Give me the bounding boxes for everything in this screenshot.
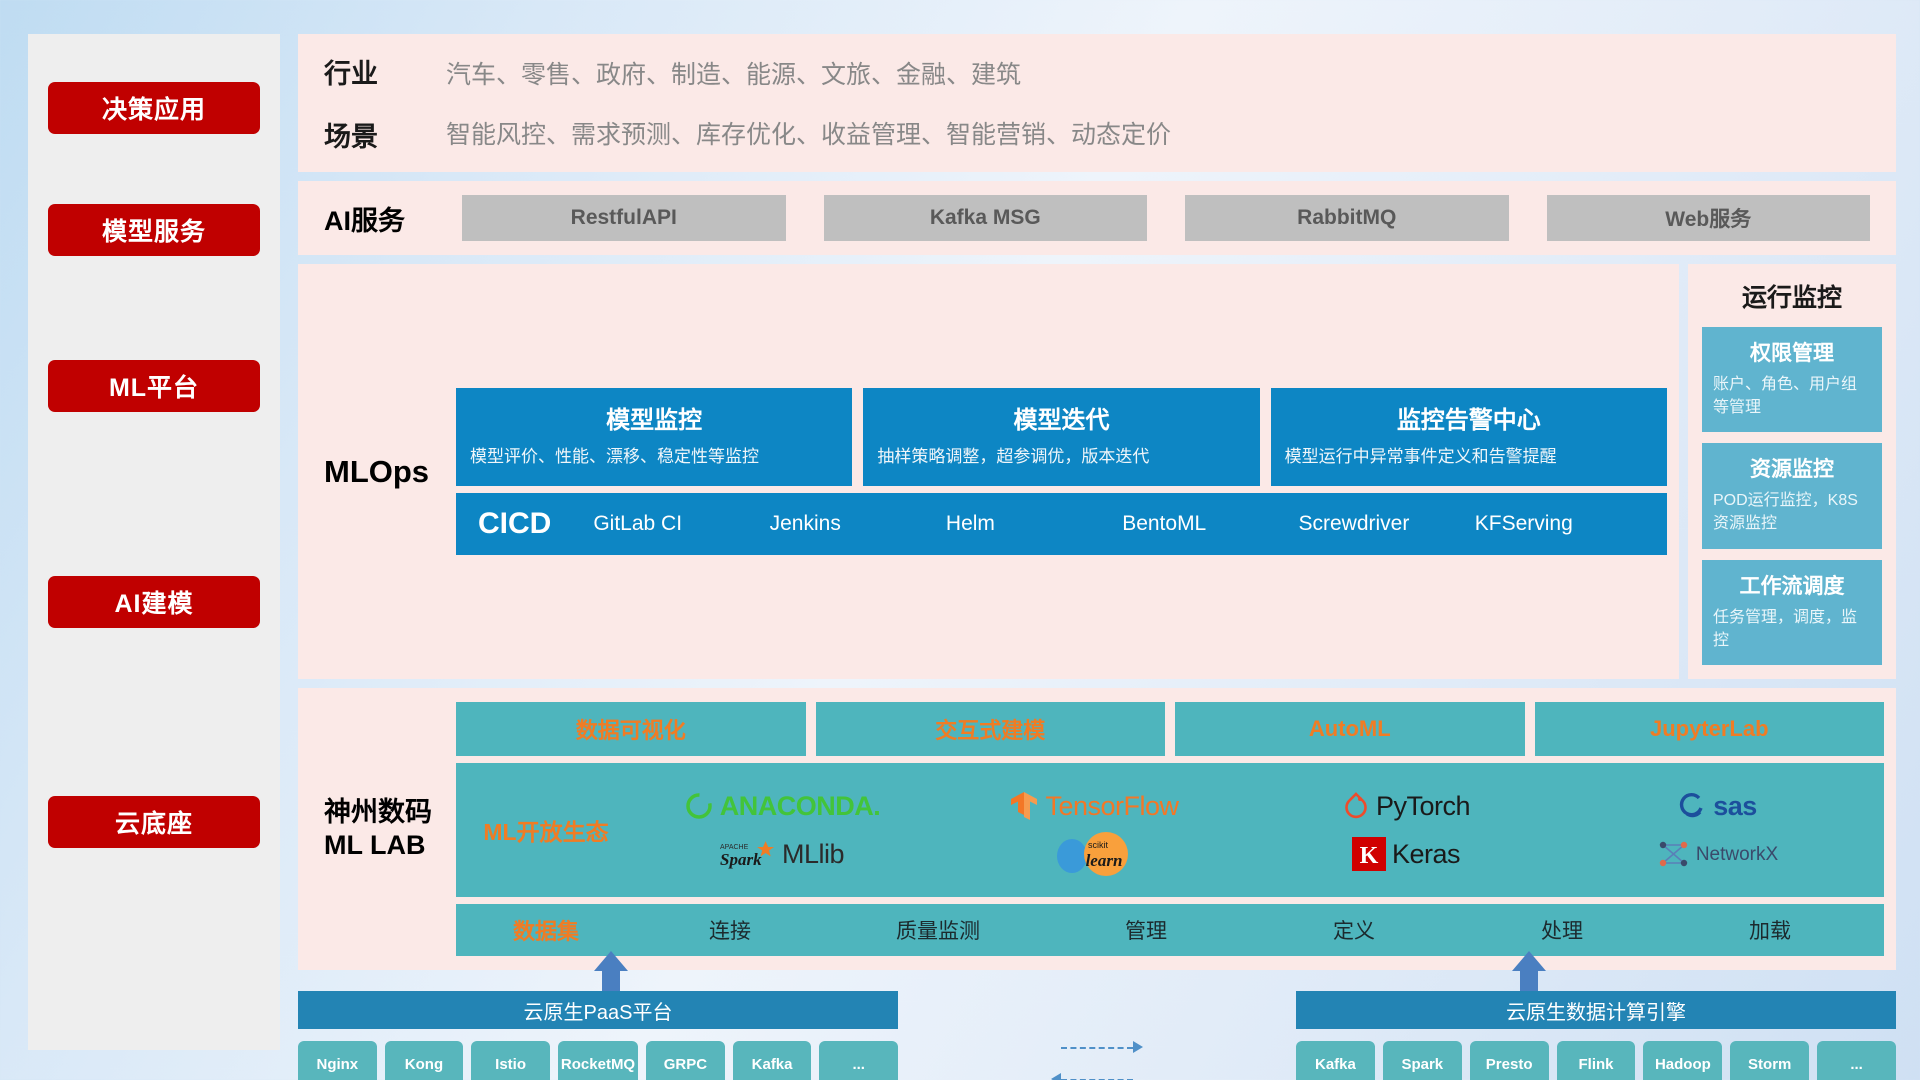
paas-tag-kafka[interactable]: Kafka — [733, 1041, 812, 1080]
monitor-panel: 运行监控 权限管理 账户、角色、用户组等管理 资源监控 POD运行监控，K8S资… — [1688, 264, 1896, 679]
ai-service-label: AI服务 — [324, 199, 442, 238]
compute-engine-tags: Kafka Spark Presto Flink Hadoop Storm ..… — [1296, 1029, 1896, 1080]
mlops-content: 模型监控 模型评价、性能、漂移、稳定性等监控 模型迭代 抽样策略调整，超参调优，… — [456, 388, 1667, 555]
monitor-card-workflow[interactable]: 工作流调度 任务管理，调度，监控 — [1702, 560, 1882, 665]
pytorch-logo: PyTorch — [1342, 791, 1470, 822]
svg-text:scikit: scikit — [1088, 840, 1108, 850]
paas-tag-kong[interactable]: Kong — [385, 1041, 464, 1080]
cicd-title: CICD — [478, 507, 551, 541]
sas-mark-icon — [1679, 792, 1707, 820]
ai-service-band: AI服务 RestfulAPI Kafka MSG RabbitMQ Web服务 — [298, 181, 1896, 255]
paas-title: 云原生PaaS平台 — [298, 991, 898, 1029]
dataset-item-process[interactable]: 处理 — [1458, 915, 1666, 945]
tab-automl[interactable]: AutoML — [1175, 702, 1525, 756]
sas-logo-text: sas — [1713, 791, 1757, 822]
card-desc: 任务管理，调度，监控 — [1713, 607, 1871, 652]
dataset-item-quality[interactable]: 质量监测 — [834, 915, 1042, 945]
tensorflow-mark-icon — [1009, 790, 1039, 822]
application-labels: 行业 场景 — [324, 52, 420, 154]
card-title: 工作流调度 — [1713, 570, 1871, 600]
arrow-head-left-icon — [1051, 1073, 1061, 1080]
monitor-panel-title: 运行监控 — [1702, 278, 1882, 314]
anaconda-logo: ANACONDA. — [684, 791, 881, 822]
networkx-logo-text: NetworkX — [1696, 845, 1778, 864]
layer-rail: 决策应用 模型服务 ML平台 AI建模 云底座 — [28, 34, 280, 1050]
sas-logo: sas — [1679, 791, 1757, 822]
ai-service-kafka-msg[interactable]: Kafka MSG — [824, 195, 1148, 241]
networkx-mark-icon — [1658, 839, 1690, 869]
dataset-items: 连接 质量监测 管理 定义 处理 加载 — [626, 915, 1874, 945]
scikit-learn-mark-icon: scikit learn — [1050, 830, 1138, 878]
cicd-item-kfserving[interactable]: KFServing — [1475, 513, 1651, 535]
card-desc: 模型评价、性能、漂移、稳定性等监控 — [470, 445, 838, 470]
compute-tag-hadoop[interactable]: Hadoop — [1643, 1041, 1722, 1080]
apache-spark-mark-icon: APACHE Spark — [720, 837, 776, 871]
paas-tag-rocketmq[interactable]: RocketMQ — [558, 1041, 638, 1080]
mlops-band: MLOps 模型监控 模型评价、性能、漂移、稳定性等监控 模型迭代 抽样策略调整… — [298, 264, 1679, 679]
mlops-label: MLOps — [324, 454, 446, 490]
main-column: 行业 场景 汽车、零售、政府、制造、能源、文旅、金融、建筑 智能风控、需求预测、… — [298, 34, 1896, 1050]
svg-text:learn: learn — [1086, 851, 1123, 870]
compute-tag-more[interactable]: ... — [1817, 1041, 1896, 1080]
bidirectional-arrows — [898, 991, 1296, 1080]
paas-tags: Nginx Kong Istio RocketMQ GRPC Kafka ... — [298, 1029, 898, 1080]
tensorflow-logo-text: TensorFlow — [1045, 791, 1178, 822]
rail-item-cloud-base[interactable]: 云底座 — [48, 796, 260, 848]
dataset-item-connect[interactable]: 连接 — [626, 915, 834, 945]
ml-lab-label-line1: 神州数码 — [324, 796, 446, 830]
pytorch-logo-text: PyTorch — [1376, 791, 1470, 822]
card-desc: 账户、角色、用户组等管理 — [1713, 374, 1871, 419]
compute-tag-flink[interactable]: Flink — [1557, 1041, 1636, 1080]
compute-tag-kafka[interactable]: Kafka — [1296, 1041, 1375, 1080]
tab-jupyterlab[interactable]: JupyterLab — [1535, 702, 1885, 756]
mlops-card-alert-center[interactable]: 监控告警中心 模型运行中异常事件定义和告警提醒 — [1271, 388, 1667, 486]
scenario-value: 智能风控、需求预测、库存优化、收益管理、智能营销、动态定价 — [446, 115, 1171, 151]
compute-engine-box: 云原生数据计算引擎 Kafka Spark Presto Flink Hadoo… — [1296, 991, 1896, 1080]
card-desc: POD运行监控，K8S资源监控 — [1713, 490, 1871, 535]
mlops-card-model-iteration[interactable]: 模型迭代 抽样策略调整，超参调优，版本迭代 — [863, 388, 1259, 486]
ml-lab-band: 神州数码 ML LAB 数据可视化 交互式建模 AutoML JupyterLa… — [298, 688, 1896, 970]
compute-tag-storm[interactable]: Storm — [1730, 1041, 1809, 1080]
paas-tag-more[interactable]: ... — [819, 1041, 898, 1080]
paas-tag-nginx[interactable]: Nginx — [298, 1041, 377, 1080]
paas-tag-istio[interactable]: Istio — [471, 1041, 550, 1080]
up-arrow-paas-icon — [594, 951, 628, 991]
cicd-item-helm[interactable]: Helm — [946, 513, 1122, 535]
industry-value: 汽车、零售、政府、制造、能源、文旅、金融、建筑 — [446, 55, 1171, 91]
svg-text:Spark: Spark — [720, 850, 762, 869]
scenario-label: 场景 — [324, 115, 420, 154]
up-arrow-compute-icon — [1512, 951, 1546, 991]
ml-ecosystem-label: ML开放生态 — [466, 813, 626, 847]
tab-data-visualization[interactable]: 数据可视化 — [456, 702, 806, 756]
ml-lab-content: 数据可视化 交互式建模 AutoML JupyterLab ML开放生态 ANA… — [456, 702, 1884, 956]
card-title: 权限管理 — [1713, 337, 1871, 367]
pytorch-mark-icon — [1342, 791, 1370, 821]
card-title: 模型监控 — [470, 400, 838, 435]
rail-item-ml-platform[interactable]: ML平台 — [48, 360, 260, 412]
rail-item-decision-app[interactable]: 决策应用 — [48, 82, 260, 134]
ml-ecosystem-logos: ANACONDA. TensorFlow — [626, 782, 1874, 878]
mlops-card-model-monitoring[interactable]: 模型监控 模型评价、性能、漂移、稳定性等监控 — [456, 388, 852, 486]
networkx-logo: NetworkX — [1658, 839, 1778, 869]
application-values: 汽车、零售、政府、制造、能源、文旅、金融、建筑 智能风控、需求预测、库存优化、收… — [446, 55, 1171, 151]
card-title: 模型迭代 — [877, 400, 1245, 435]
ai-service-items: RestfulAPI Kafka MSG RabbitMQ Web服务 — [462, 195, 1870, 241]
ml-lab-label: 神州数码 ML LAB — [324, 796, 446, 864]
anaconda-logo-text: ANACONDA. — [720, 791, 881, 822]
card-title: 资源监控 — [1713, 453, 1871, 483]
cicd-items: GitLab CI Jenkins Helm BentoML Screwdriv… — [593, 513, 1651, 535]
tab-interactive-modeling[interactable]: 交互式建模 — [816, 702, 1166, 756]
rail-item-ai-modeling[interactable]: AI建模 — [48, 576, 260, 628]
dataset-item-load[interactable]: 加载 — [1666, 915, 1874, 945]
arrow-head-right-icon — [1133, 1041, 1143, 1053]
paas-box: 云原生PaaS平台 Nginx Kong Istio RocketMQ GRPC… — [298, 991, 898, 1080]
compute-engine-title: 云原生数据计算引擎 — [1296, 991, 1896, 1029]
ml-ecosystem-row: ML开放生态 ANACONDA. — [456, 763, 1884, 897]
mlops-row: MLOps 模型监控 模型评价、性能、漂移、稳定性等监控 模型迭代 抽样策略调整… — [298, 264, 1896, 679]
anaconda-mark-icon — [684, 791, 714, 821]
spark-mllib-logo: APACHE Spark MLlib — [720, 837, 844, 871]
cicd-item-jenkins[interactable]: Jenkins — [770, 513, 946, 535]
keras-logo: K Keras — [1352, 837, 1460, 871]
diagram-root: 决策应用 模型服务 ML平台 AI建模 云底座 行业 场景 汽车、零售、政府、制… — [0, 0, 1920, 1080]
mllib-logo-text: MLlib — [782, 839, 844, 870]
dataset-item-manage[interactable]: 管理 — [1042, 915, 1250, 945]
ai-service-restfulapi[interactable]: RestfulAPI — [462, 195, 786, 241]
scikit-learn-logo: scikit learn — [1050, 830, 1138, 878]
rail-item-model-service[interactable]: 模型服务 — [48, 204, 260, 256]
card-title: 监控告警中心 — [1285, 400, 1653, 435]
paas-tag-grpc[interactable]: GRPC — [646, 1041, 725, 1080]
cicd-item-gitlab-ci[interactable]: GitLab CI — [593, 513, 769, 535]
card-desc: 抽样策略调整，超参调优，版本迭代 — [877, 445, 1245, 470]
cloud-base-row: 云原生PaaS平台 Nginx Kong Istio RocketMQ GRPC… — [298, 991, 1896, 1080]
dataset-item-define[interactable]: 定义 — [1250, 915, 1458, 945]
card-desc: 模型运行中异常事件定义和告警提醒 — [1285, 445, 1653, 470]
tensorflow-logo: TensorFlow — [1009, 790, 1178, 822]
compute-tag-presto[interactable]: Presto — [1470, 1041, 1549, 1080]
arrow-line-right — [1061, 1047, 1133, 1049]
ml-lab-label-line2: ML LAB — [324, 829, 446, 863]
ai-service-web[interactable]: Web服务 — [1547, 195, 1871, 241]
application-band: 行业 场景 汽车、零售、政府、制造、能源、文旅、金融、建筑 智能风控、需求预测、… — [298, 34, 1896, 172]
ai-service-rabbitmq[interactable]: RabbitMQ — [1185, 195, 1509, 241]
dataset-label: 数据集 — [466, 914, 626, 946]
compute-tag-spark[interactable]: Spark — [1383, 1041, 1462, 1080]
ml-lab-tabs: 数据可视化 交互式建模 AutoML JupyterLab — [456, 702, 1884, 756]
cicd-bar: CICD GitLab CI Jenkins Helm BentoML Scre… — [456, 493, 1667, 555]
industry-label: 行业 — [324, 52, 420, 91]
keras-logo-text: Keras — [1392, 839, 1460, 870]
monitor-card-permission[interactable]: 权限管理 账户、角色、用户组等管理 — [1702, 327, 1882, 432]
monitor-card-resource[interactable]: 资源监控 POD运行监控，K8S资源监控 — [1702, 443, 1882, 548]
mlops-cards: 模型监控 模型评价、性能、漂移、稳定性等监控 模型迭代 抽样策略调整，超参调优，… — [456, 388, 1667, 486]
cicd-item-bentoml[interactable]: BentoML — [1122, 513, 1298, 535]
dataset-row: 数据集 连接 质量监测 管理 定义 处理 加载 — [456, 904, 1884, 956]
svg-text:K: K — [1360, 843, 1379, 869]
keras-mark-icon: K — [1352, 837, 1386, 871]
cicd-item-screwdriver[interactable]: Screwdriver — [1298, 513, 1474, 535]
